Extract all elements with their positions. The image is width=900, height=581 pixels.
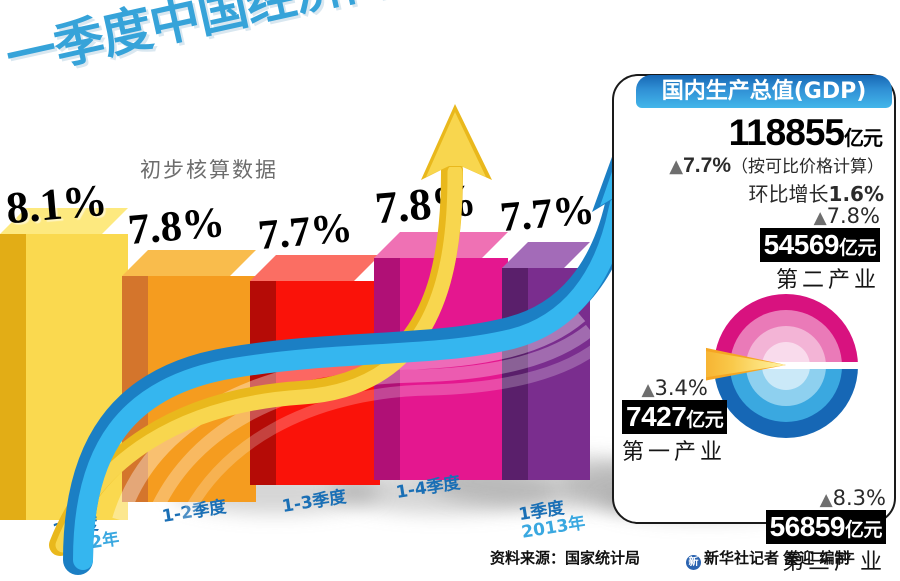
sector-secondary: ▲7.8% 54569亿元 第二产业 — [760, 204, 880, 294]
sector-donut-chart — [706, 286, 866, 446]
sector-tertiary-amount-number: 56859 — [770, 511, 845, 542]
gdp-qoq-row: 环比增长1.6% — [749, 178, 884, 207]
bar-label-3: 7.7% — [256, 204, 354, 260]
axis-label-5: 1季度 2013年 — [518, 497, 587, 542]
bar-label-4: 7.8% — [373, 174, 478, 235]
sector-secondary-amount-unit: 亿元 — [839, 238, 876, 259]
sector-tertiary-rate-value: 8.3% — [833, 486, 886, 510]
bar-1 — [26, 208, 128, 520]
sector-tertiary-rate: ▲8.3% — [766, 486, 886, 510]
sector-secondary-amount-number: 54569 — [764, 229, 839, 260]
infographic-canvas: 8.1% 1季度 2012年 7.8% 1-2季度 7.7% 1-3季度 — [0, 0, 900, 581]
sector-secondary-rate-value: 7.8% — [827, 204, 880, 228]
gdp-panel-header: 国内生产总值(GDP) — [636, 75, 892, 108]
bar-3 — [276, 255, 380, 485]
triangle-up-icon: ▲ — [641, 380, 654, 400]
gdp-growth-note: （按可比价格计算） — [731, 157, 884, 177]
credit-text: 新华社记者 秦迎 编制 — [704, 549, 849, 567]
sector-primary-rate: ▲3.4% — [622, 376, 727, 400]
donut-tertiary-rings — [714, 366, 858, 438]
bar-value-3: 7.7% — [256, 205, 354, 259]
sector-tertiary-amount-unit: 亿元 — [845, 520, 882, 541]
credit-note: 新新华社记者 秦迎 编制 — [686, 547, 849, 570]
bar-2 — [148, 250, 256, 502]
sector-secondary-rate: ▲7.8% — [760, 204, 880, 228]
bar-value-5: 7.7% — [498, 187, 596, 241]
sector-primary: ▲3.4% 7427亿元 第一产业 — [622, 376, 727, 466]
source-note: 资料来源：国家统计局 — [490, 547, 640, 568]
bar-value-4: 7.8% — [373, 175, 478, 234]
bar-label-5: 7.7% — [498, 186, 596, 242]
gdp-qoq-value: 1.6% — [829, 182, 884, 206]
axis-label-2: 1-2季度 — [161, 499, 228, 527]
bar-5 — [528, 242, 590, 480]
sector-primary-amount: 7427亿元 — [622, 400, 727, 434]
xinhua-logo-icon: 新 — [686, 555, 701, 570]
bar-label-1: 8.1% — [4, 174, 109, 235]
gdp-panel: 国内生产总值(GDP) 118855亿元 ▲7.7%（按可比价格计算） 环比增长… — [612, 74, 896, 524]
page-title: 一季度中国经济同比增长7.7% — [0, 0, 659, 90]
triangle-up-icon: ▲ — [820, 490, 833, 510]
sector-secondary-amount: 54569亿元 — [760, 228, 880, 262]
triangle-up-icon: ▲ — [814, 208, 827, 228]
subtitle: 初步核算数据 — [140, 154, 278, 184]
triangle-up-icon: ▲ — [669, 156, 683, 177]
sector-primary-amount-unit: 亿元 — [686, 410, 723, 431]
sector-primary-name: 第一产业 — [622, 434, 727, 466]
bar-label-2: 7.8% — [126, 198, 227, 255]
gdp-total-value: 118855亿元 — [729, 112, 882, 154]
gdp-growth-value: 7.7% — [683, 154, 731, 177]
sector-tertiary-amount: 56859亿元 — [766, 510, 886, 544]
sector-primary-amount-number: 7427 — [626, 401, 686, 432]
gdp-qoq-label: 环比增长 — [749, 182, 829, 206]
gdp-growth-rate: ▲7.7%（按可比价格计算） — [669, 152, 884, 178]
bar-4 — [400, 232, 508, 480]
sector-primary-rate-value: 3.4% — [655, 376, 708, 400]
bar-value-1: 8.1% — [4, 175, 109, 234]
axis-label-1: 1季度 2012年 — [52, 513, 121, 558]
page-title-text: 一季度中国经济同比增长 — [1, 0, 540, 87]
bar-value-2: 7.8% — [126, 199, 226, 254]
gdp-total-unit: 亿元 — [844, 128, 882, 150]
gdp-total-number: 118855 — [729, 112, 844, 153]
